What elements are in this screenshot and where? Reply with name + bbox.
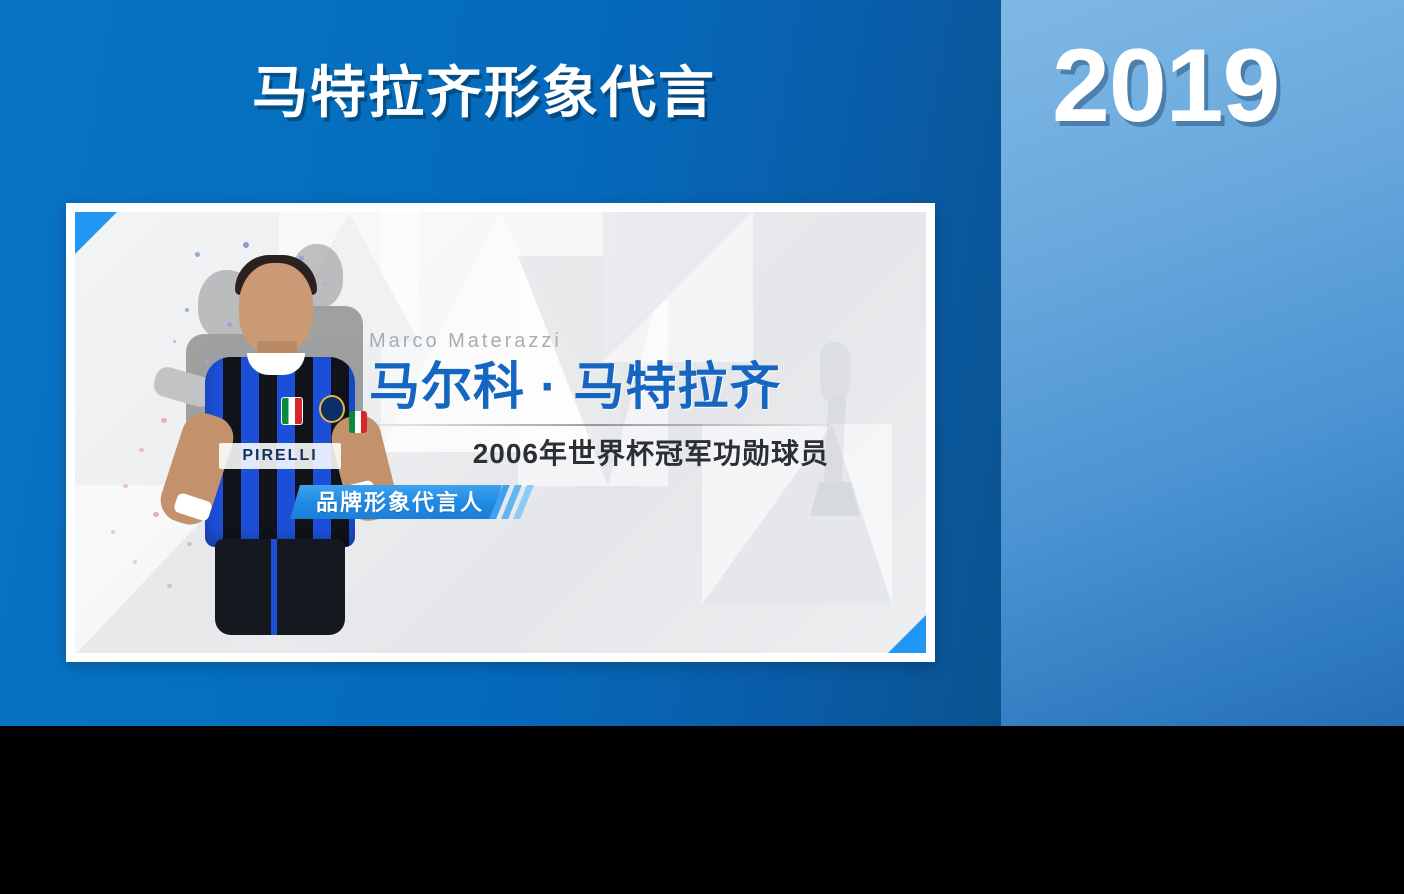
page-title: 马特拉齐形象代言 (252, 62, 716, 124)
text-divider (369, 424, 829, 426)
corner-triangle-top-left-icon (75, 212, 117, 254)
letterbox-bottom (0, 726, 1404, 894)
poster-subtitle: 2006年世界杯冠军功勋球员 (369, 432, 829, 472)
latin-name: Marco Materazzi (369, 330, 829, 353)
chinese-name: 马尔科 · 马特拉齐 (369, 359, 829, 414)
year-label: 2019 (1052, 34, 1279, 138)
endorser-ribbon: 品牌形象代言人 (290, 485, 532, 519)
corner-triangle-bottom-right-icon (888, 615, 926, 653)
ribbon-label: 品牌形象代言人 (290, 485, 502, 519)
poster-frame: PIRELLI Marco Materazzi 马尔科 · 马特拉齐 2006年… (66, 203, 935, 662)
poster-image: PIRELLI Marco Materazzi 马尔科 · 马特拉齐 2006年… (75, 212, 926, 653)
slide-stage: 马特拉齐形象代言 2019 (0, 0, 1404, 894)
ribbon-slash-icon (496, 485, 532, 519)
jersey-sponsor-text: PIRELLI (219, 443, 341, 469)
poster-text-block: Marco Materazzi 马尔科 · 马特拉齐 2006年世界杯冠军功勋球… (369, 330, 829, 472)
slide-canvas: 马特拉齐形象代言 2019 (0, 0, 1404, 726)
